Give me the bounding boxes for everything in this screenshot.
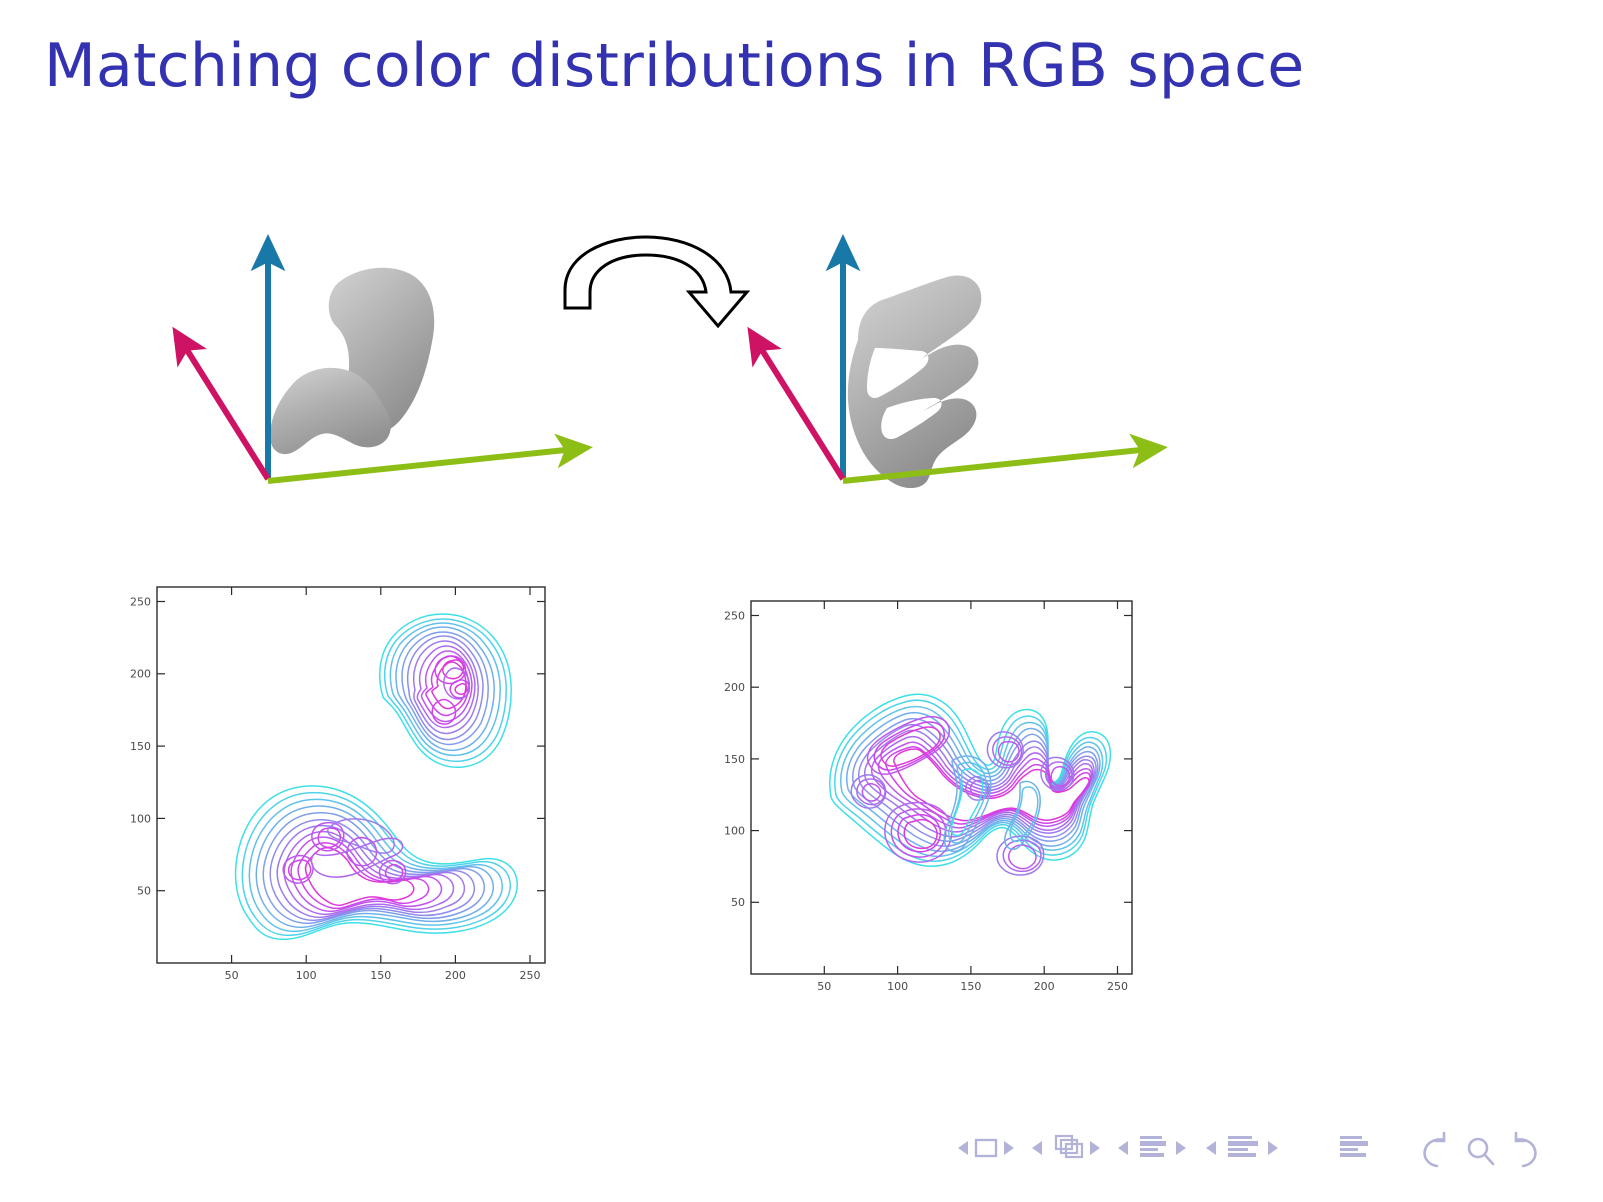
source-contour-highlight-cluster	[380, 614, 511, 767]
target-distribution-contour-plot: 50 100 150 200 250 50 100 150 200 250	[715, 575, 1155, 1005]
page-title: Matching color distributions in RGB spac…	[44, 36, 1304, 96]
target-plot-xtick-label: 150	[960, 980, 981, 993]
target-rgb-axes-diagram	[725, 230, 1345, 520]
nav-next-slide[interactable]	[1004, 1141, 1014, 1155]
source-plot-xtick-label: 50	[225, 969, 239, 982]
source-plot-xtick-label: 200	[445, 969, 466, 982]
target-contour-hand	[830, 694, 1111, 875]
nav-prev-slide[interactable]	[958, 1141, 968, 1155]
target-plot-xtick-label: 100	[887, 980, 908, 993]
source-plot-ytick-label: 200	[130, 668, 151, 681]
target-plot-ytick-label: 50	[731, 896, 745, 909]
source-plot-yticks	[157, 602, 545, 891]
source-plot-ytick-label: 50	[137, 885, 151, 898]
slide-canvas: Matching color distributions in RGB spac…	[0, 0, 1603, 1202]
nav-back-arrowhead[interactable]	[1436, 1133, 1444, 1141]
nav-prev-subsection[interactable]	[1118, 1141, 1128, 1155]
source-axis-horizontal-green	[268, 449, 575, 481]
nav-search-handle[interactable]	[1485, 1155, 1493, 1164]
target-blob-hand	[848, 276, 981, 489]
target-plot-frame	[751, 601, 1132, 974]
nav-prev-section[interactable]	[1206, 1141, 1216, 1155]
target-plot-xtick-label: 200	[1034, 980, 1055, 993]
beamer-navigation-bar[interactable]	[950, 1128, 1570, 1180]
rgb-space-diagram-row	[0, 220, 1603, 500]
nav-current-slide[interactable]	[976, 1140, 996, 1156]
target-plot-xtick-label: 50	[817, 980, 831, 993]
nav-next-frame[interactable]	[1090, 1141, 1100, 1155]
target-plot-xtick-label: 250	[1107, 980, 1128, 993]
target-axis-depth-magenta	[757, 342, 843, 479]
nav-current-subsection[interactable]	[1140, 1136, 1166, 1157]
target-plot-ytick-label: 250	[724, 609, 745, 622]
nav-current-frame[interactable]	[1056, 1136, 1082, 1157]
source-plot-xtick-label: 150	[370, 969, 391, 982]
source-plot-xtick-label: 250	[520, 969, 541, 982]
source-distribution-contour-plot: 50 100 150 200 250 50 100 150 200 250	[125, 565, 565, 995]
nav-prev-frame[interactable]	[1032, 1141, 1042, 1155]
source-plot-ytick-label: 150	[130, 740, 151, 753]
nav-back[interactable]	[1425, 1139, 1444, 1166]
nav-document[interactable]	[1340, 1136, 1368, 1157]
source-contour-shadow-cluster	[236, 786, 518, 939]
source-plot-xtick-label: 100	[296, 969, 317, 982]
source-plot-ytick-label: 250	[130, 595, 151, 608]
nav-current-section[interactable]	[1228, 1136, 1258, 1157]
nav-forward[interactable]	[1516, 1139, 1535, 1166]
target-plot-ytick-label: 150	[724, 753, 745, 766]
target-plot-ytick-label: 200	[724, 681, 745, 694]
source-plot-ytick-label: 100	[130, 812, 151, 825]
nav-next-section[interactable]	[1268, 1141, 1278, 1155]
nav-forward-arrowhead[interactable]	[1516, 1133, 1524, 1141]
curved-transform-arrow-outline	[565, 237, 747, 326]
source-axis-depth-magenta	[182, 342, 268, 479]
target-plot-ytick-label: 100	[724, 825, 745, 838]
nav-next-subsection[interactable]	[1176, 1141, 1186, 1155]
